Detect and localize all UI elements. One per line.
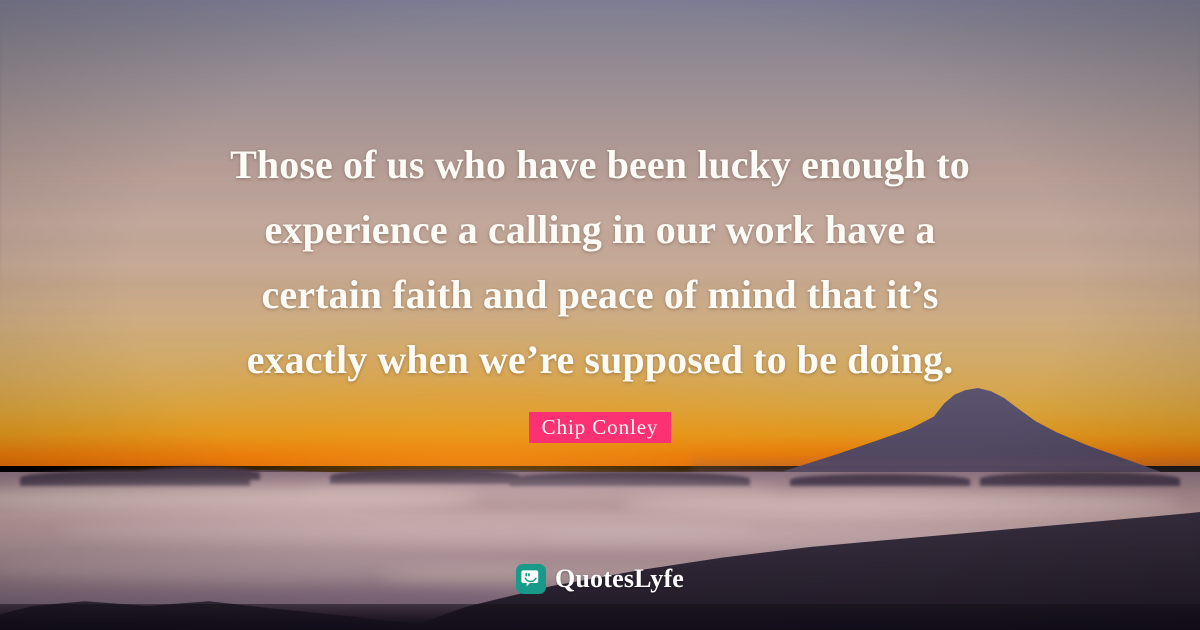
author-name-badge[interactable]: Chip Conley xyxy=(529,412,672,443)
quote-card: Those of us who have been lucky enough t… xyxy=(0,0,1200,630)
foreground-shadow xyxy=(0,604,1200,630)
quote-text-block: Those of us who have been lucky enough t… xyxy=(0,132,1200,392)
quote-line: certain faith and peace of mind that it’… xyxy=(84,262,1116,327)
brand-name: QuotesLyfe xyxy=(555,564,684,594)
cloud-island xyxy=(980,472,1180,486)
quote-line: exactly when we’re supposed to be doing. xyxy=(84,327,1116,392)
cloud-island xyxy=(140,467,260,480)
brand-logo[interactable]: QuotesLyfe xyxy=(0,564,1200,594)
cloud-band xyxy=(620,492,1180,516)
author-attribution: Chip Conley xyxy=(0,412,1200,443)
quote-line: experience a calling in our work have a xyxy=(84,197,1116,262)
cloud-island xyxy=(790,474,970,486)
quote-smiley-icon xyxy=(516,564,546,594)
quote-line: Those of us who have been lucky enough t… xyxy=(84,132,1116,197)
